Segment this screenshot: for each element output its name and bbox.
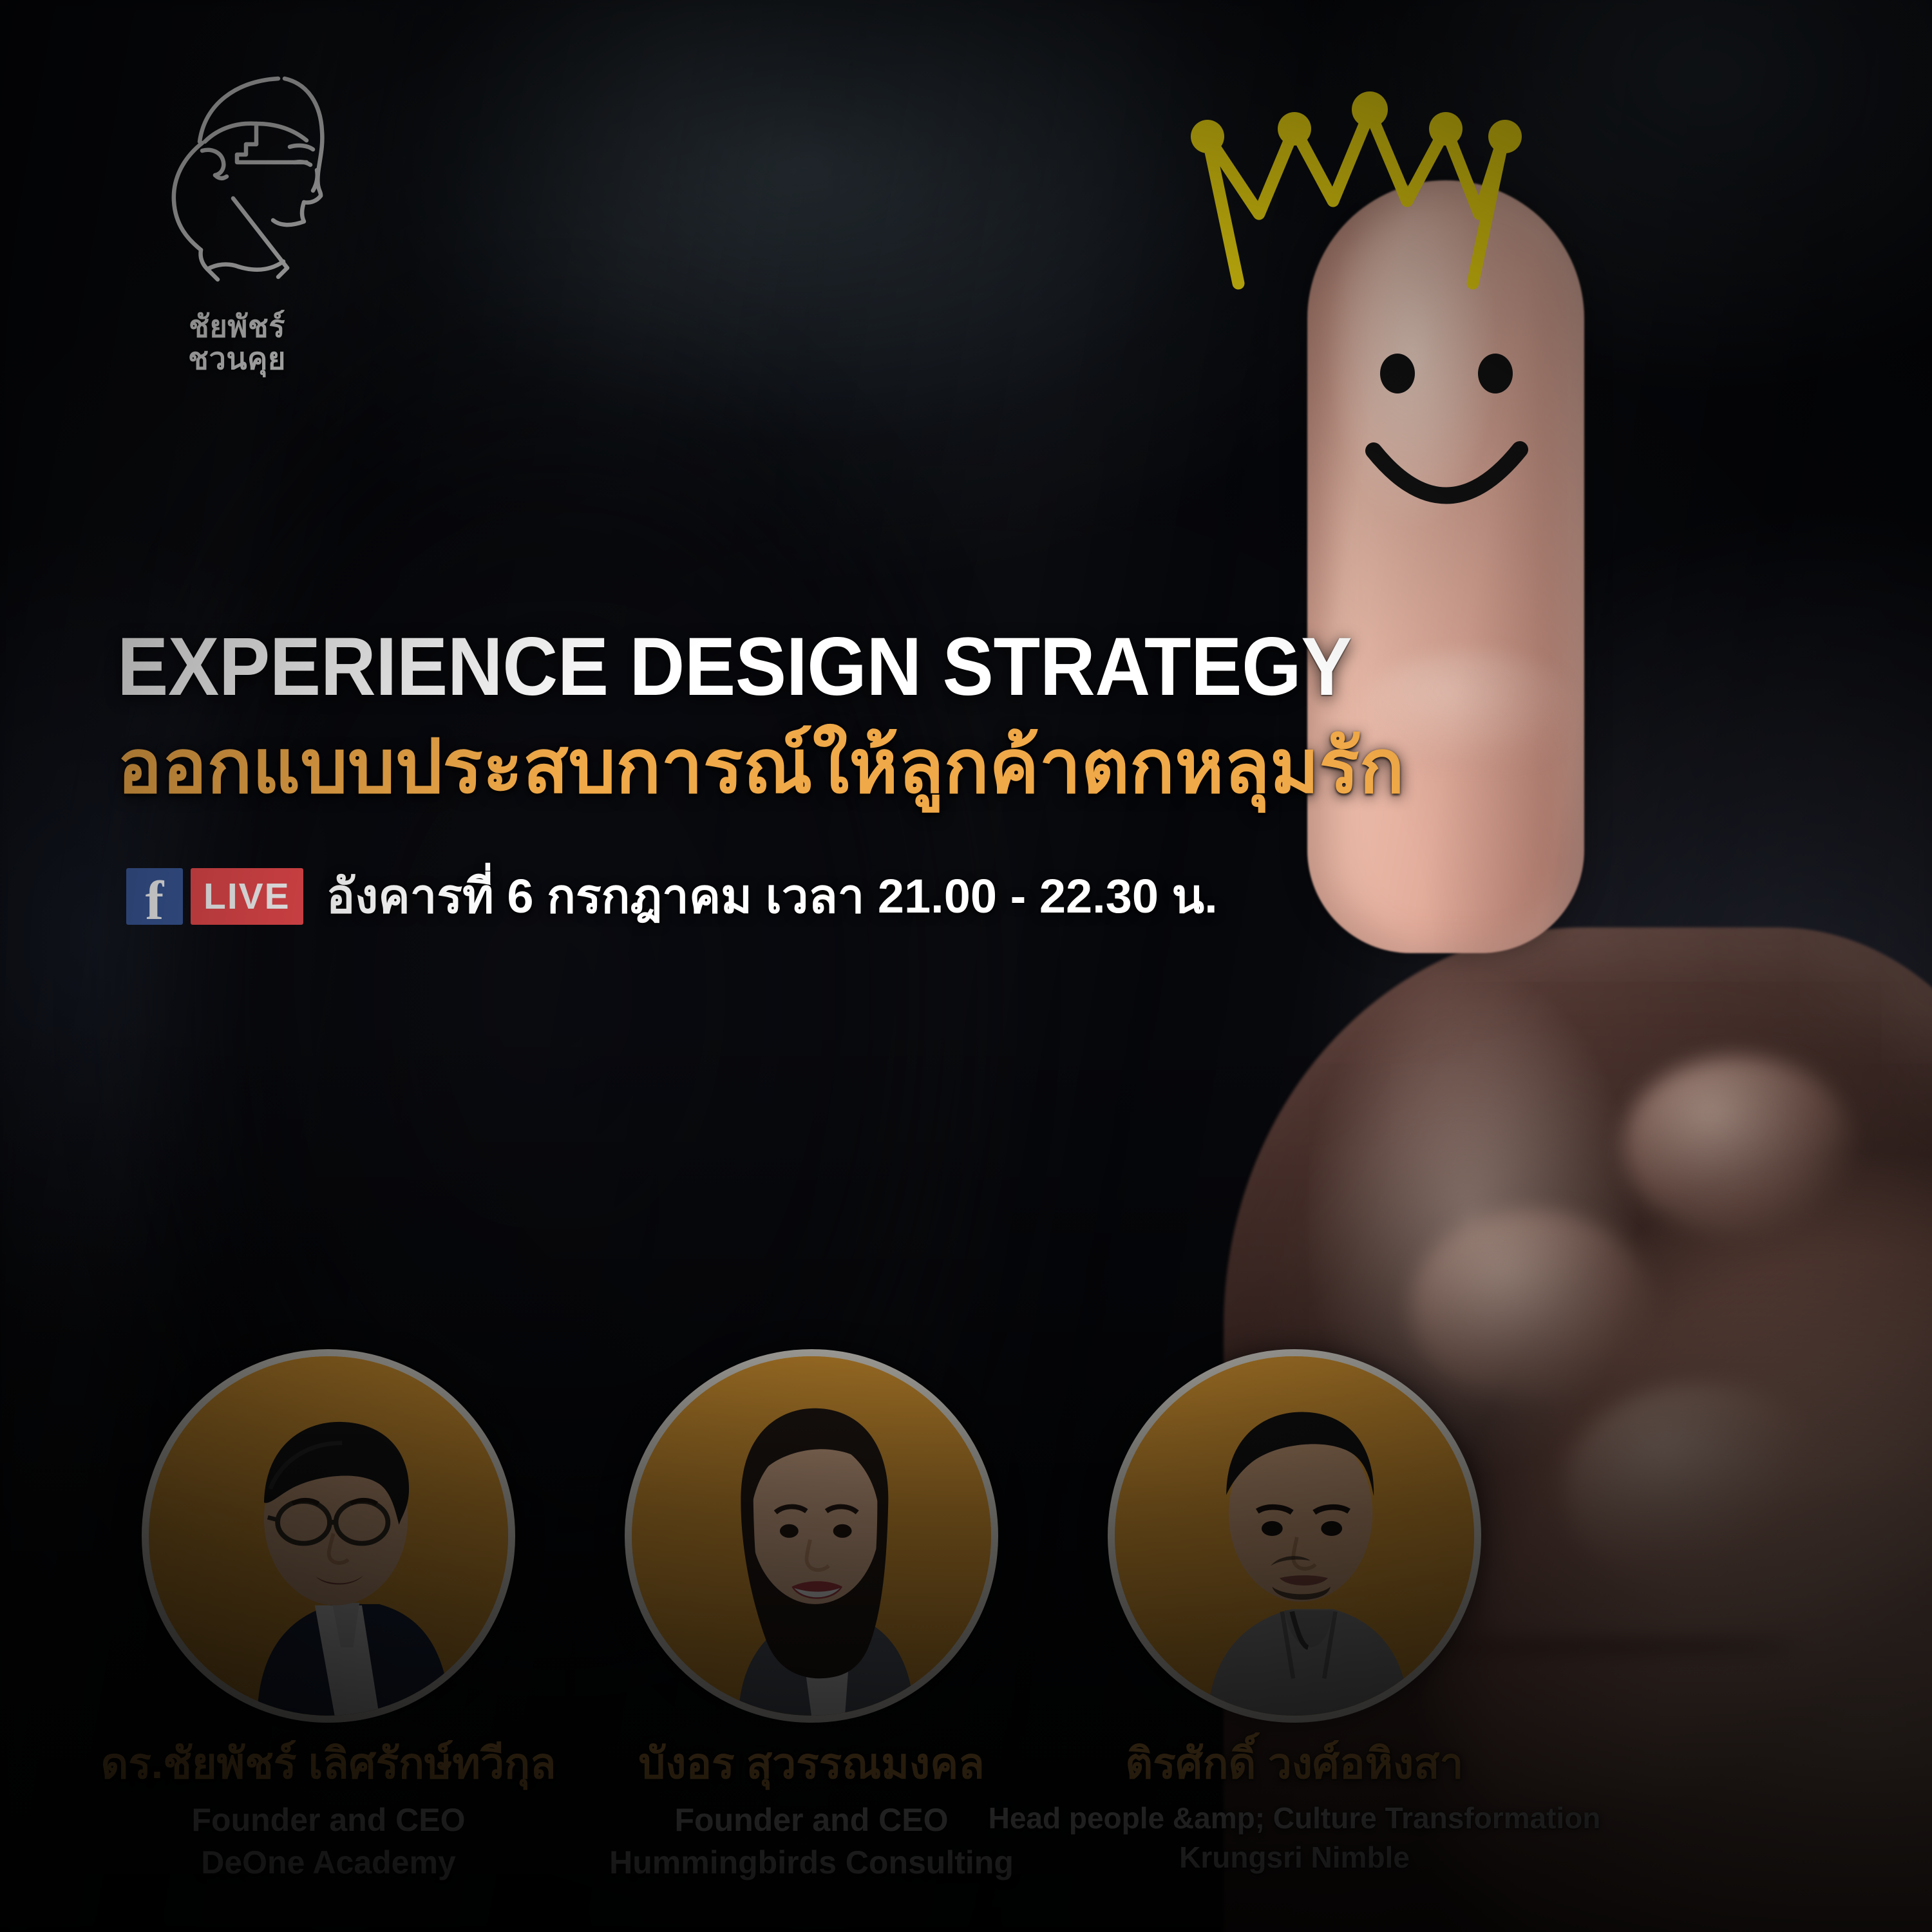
event-promo-poster: ชัยพัชร์ ชวนคุย EXPERIENCE DESIGN STRATE… [0, 0, 1932, 1932]
vignette-overlay [0, 0, 1932, 1932]
